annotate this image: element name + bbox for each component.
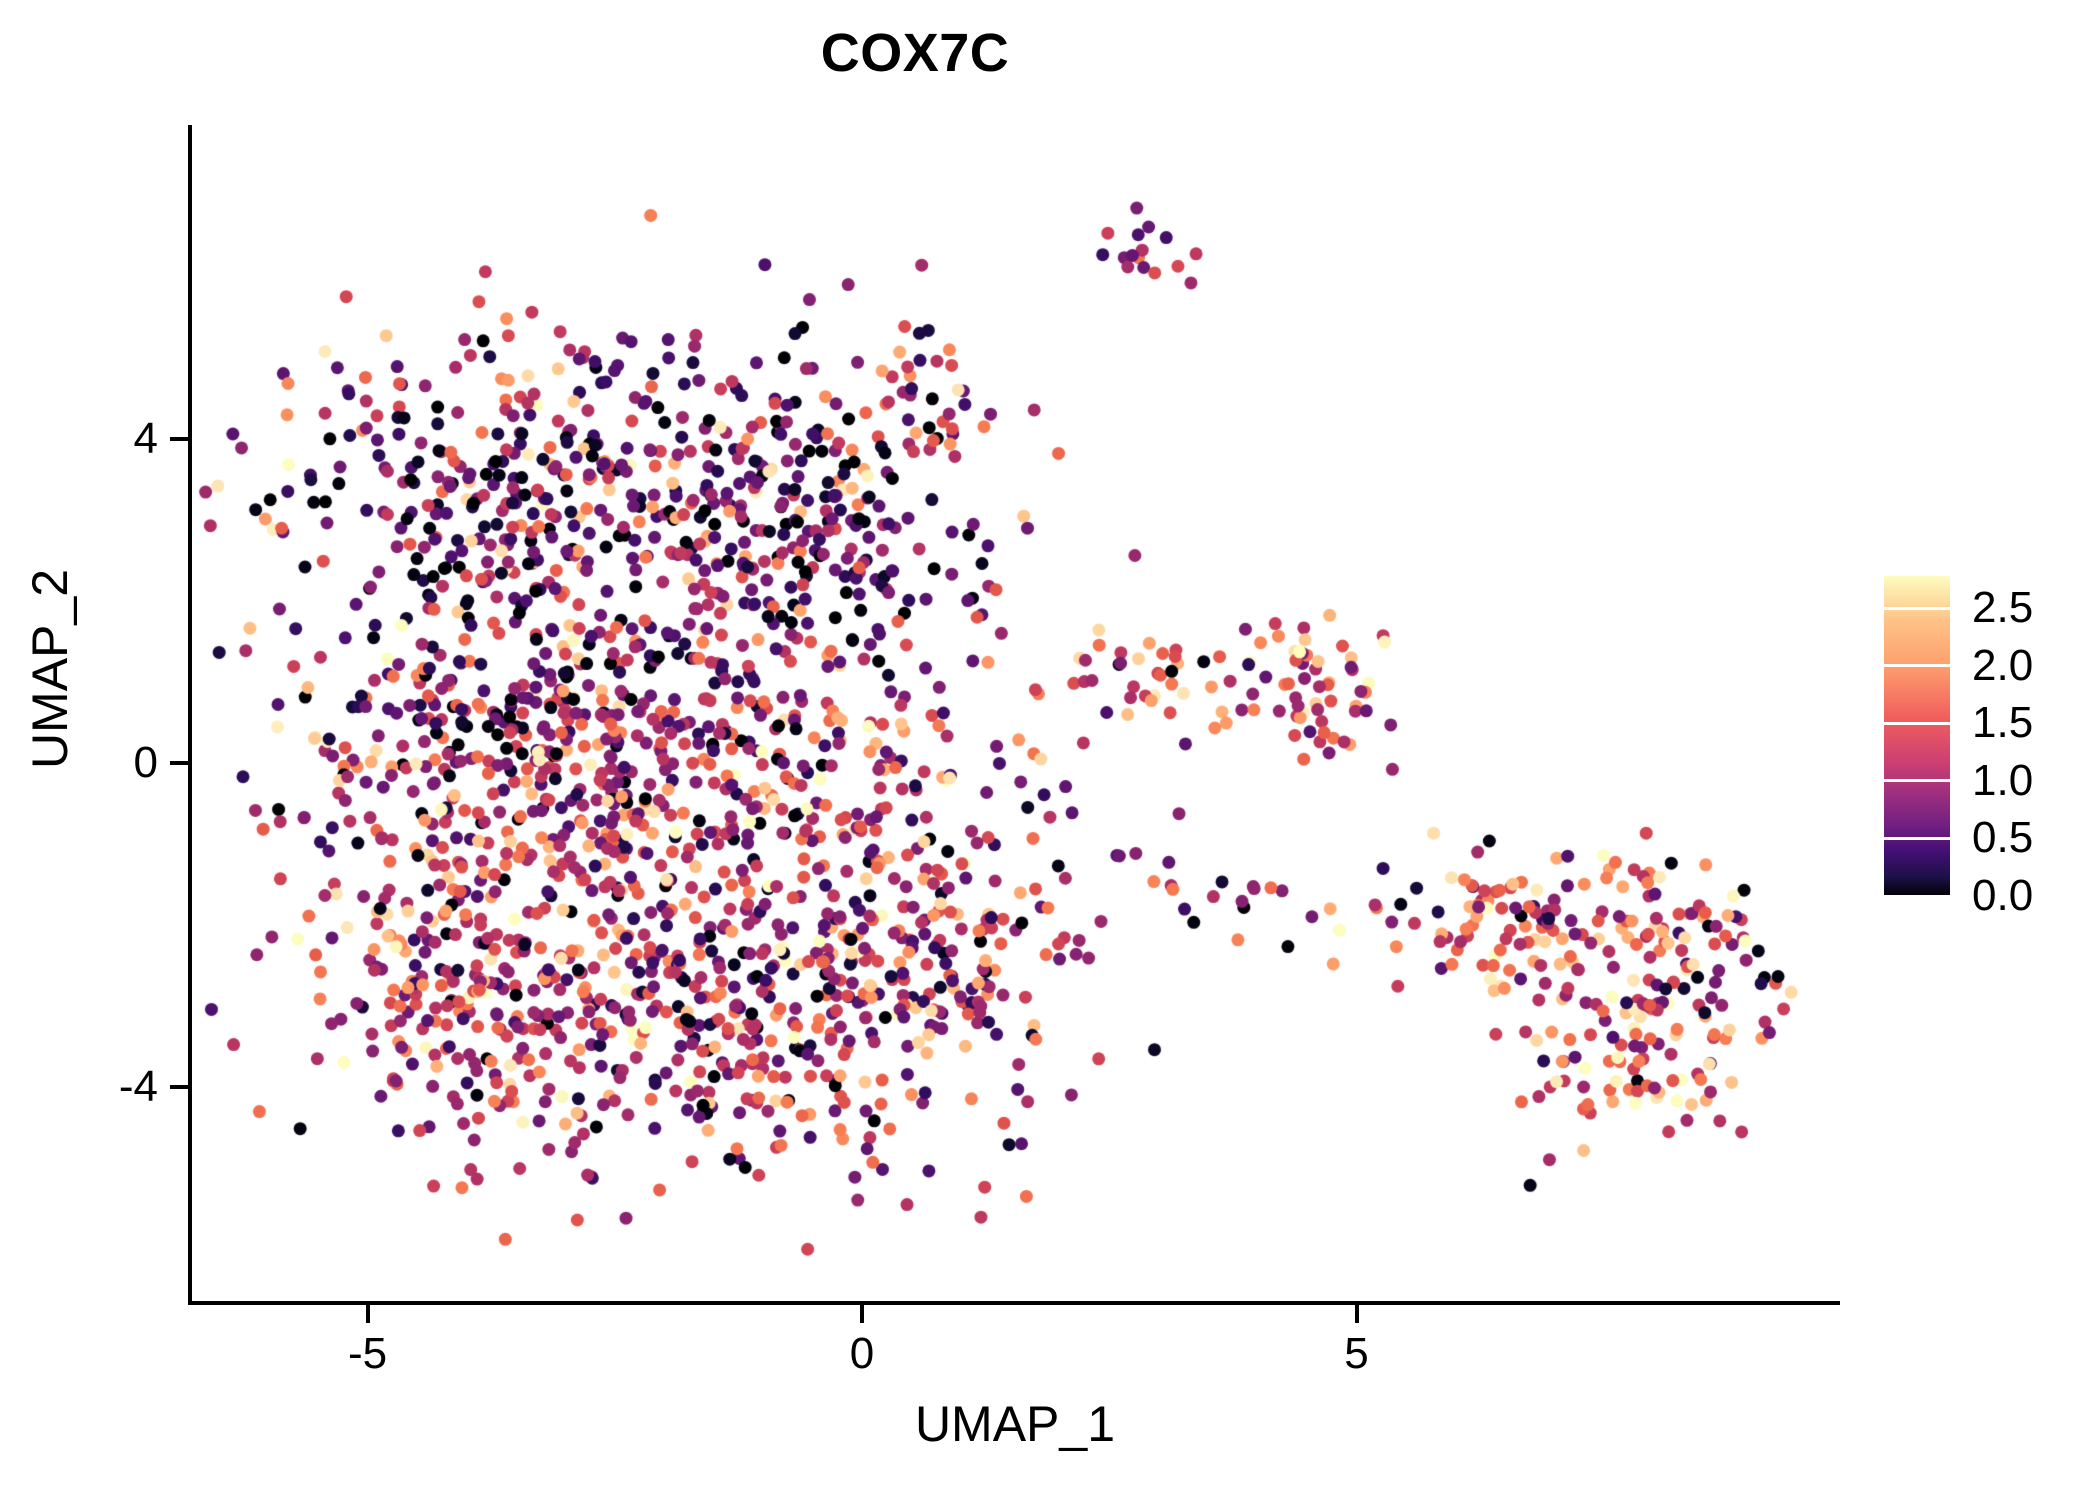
- y-tick-mark: [170, 761, 188, 765]
- y-tick-mark: [170, 437, 188, 441]
- x-tick-label: 0: [792, 1332, 932, 1376]
- scatter-points-canvas: [190, 125, 1840, 1303]
- legend-tick-mark: [1884, 664, 1950, 667]
- legend-tick-label: 0.0: [1972, 874, 2100, 918]
- color-legend-gradient-bar: [1884, 576, 1950, 896]
- x-tick-label: -5: [298, 1332, 438, 1376]
- x-tick-mark: [1355, 1305, 1359, 1323]
- x-axis-title: UMAP_1: [190, 1395, 1840, 1453]
- y-axis-line: [188, 125, 192, 1305]
- color-legend: 2.52.01.51.00.50.0: [1884, 576, 2084, 898]
- legend-tick-mark: [1884, 779, 1950, 782]
- legend-tick-label: 0.5: [1972, 816, 2100, 860]
- y-axis-title: UMAP_2: [21, 369, 79, 969]
- legend-tick-mark: [1884, 607, 1950, 610]
- legend-tick-mark: [1884, 722, 1950, 725]
- page-title: COX7C: [0, 22, 1830, 84]
- x-tick-mark: [860, 1305, 864, 1323]
- y-tick-mark: [170, 1085, 188, 1089]
- umap-feature-plot: COX7C 40-4 -505 UMAP_1 UMAP_2 2.52.01.51…: [0, 0, 2100, 1500]
- x-tick-label: 5: [1287, 1332, 1427, 1376]
- x-axis-line: [188, 1301, 1840, 1305]
- legend-tick-mark: [1884, 895, 1950, 898]
- legend-tick-label: 2.5: [1972, 586, 2100, 630]
- legend-tick-label: 2.0: [1972, 644, 2100, 688]
- plot-panel: [190, 125, 1840, 1303]
- y-tick-label: -4: [38, 1065, 158, 1109]
- legend-tick-label: 1.5: [1972, 701, 2100, 745]
- legend-tick-label: 1.0: [1972, 759, 2100, 803]
- x-tick-mark: [366, 1305, 370, 1323]
- legend-tick-mark: [1884, 837, 1950, 840]
